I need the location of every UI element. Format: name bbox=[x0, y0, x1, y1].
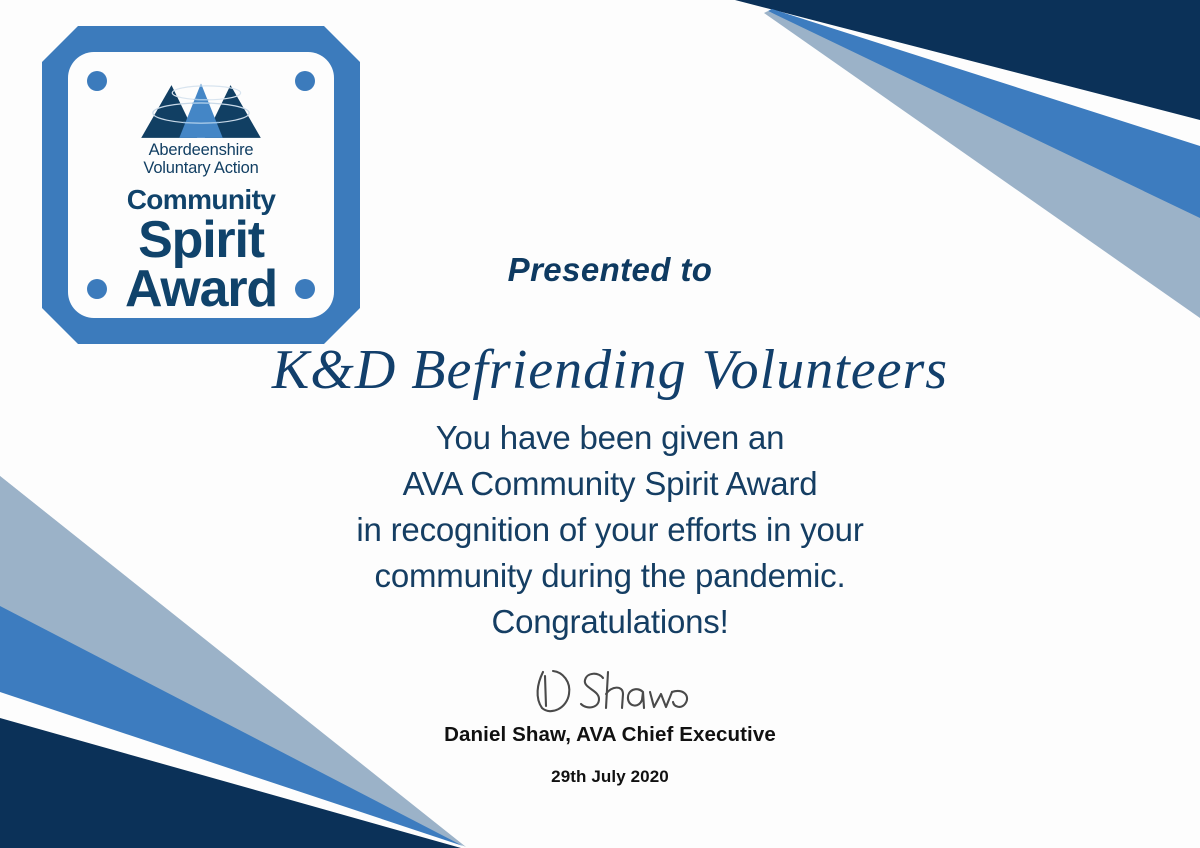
citation-line: AVA Community Spirit Award bbox=[210, 461, 1010, 507]
certificate-content: Presented to K&D Befriending Volunteers … bbox=[230, 0, 990, 848]
handwritten-signature-icon bbox=[515, 664, 705, 720]
award-date: 29th July 2020 bbox=[230, 767, 990, 787]
recipient-name: K&D Befriending Volunteers bbox=[230, 338, 990, 402]
citation-line: in recognition of your efforts in your bbox=[210, 507, 1010, 553]
presented-to-label: Presented to bbox=[230, 251, 990, 289]
signature-block: Daniel Shaw, AVA Chief Executive 29th Ju… bbox=[230, 664, 990, 787]
citation-line: You have been given an bbox=[210, 415, 1010, 461]
citation-line: Congratulations! bbox=[210, 599, 1010, 645]
citation-line: community during the pandemic. bbox=[210, 553, 1010, 599]
citation-text: You have been given an AVA Community Spi… bbox=[210, 415, 1010, 645]
signatory-name: Daniel Shaw, AVA Chief Executive bbox=[230, 723, 990, 747]
logo-center-triangle bbox=[179, 84, 222, 138]
certificate-page: Aberdeenshire Voluntary Action Community… bbox=[0, 0, 1200, 848]
